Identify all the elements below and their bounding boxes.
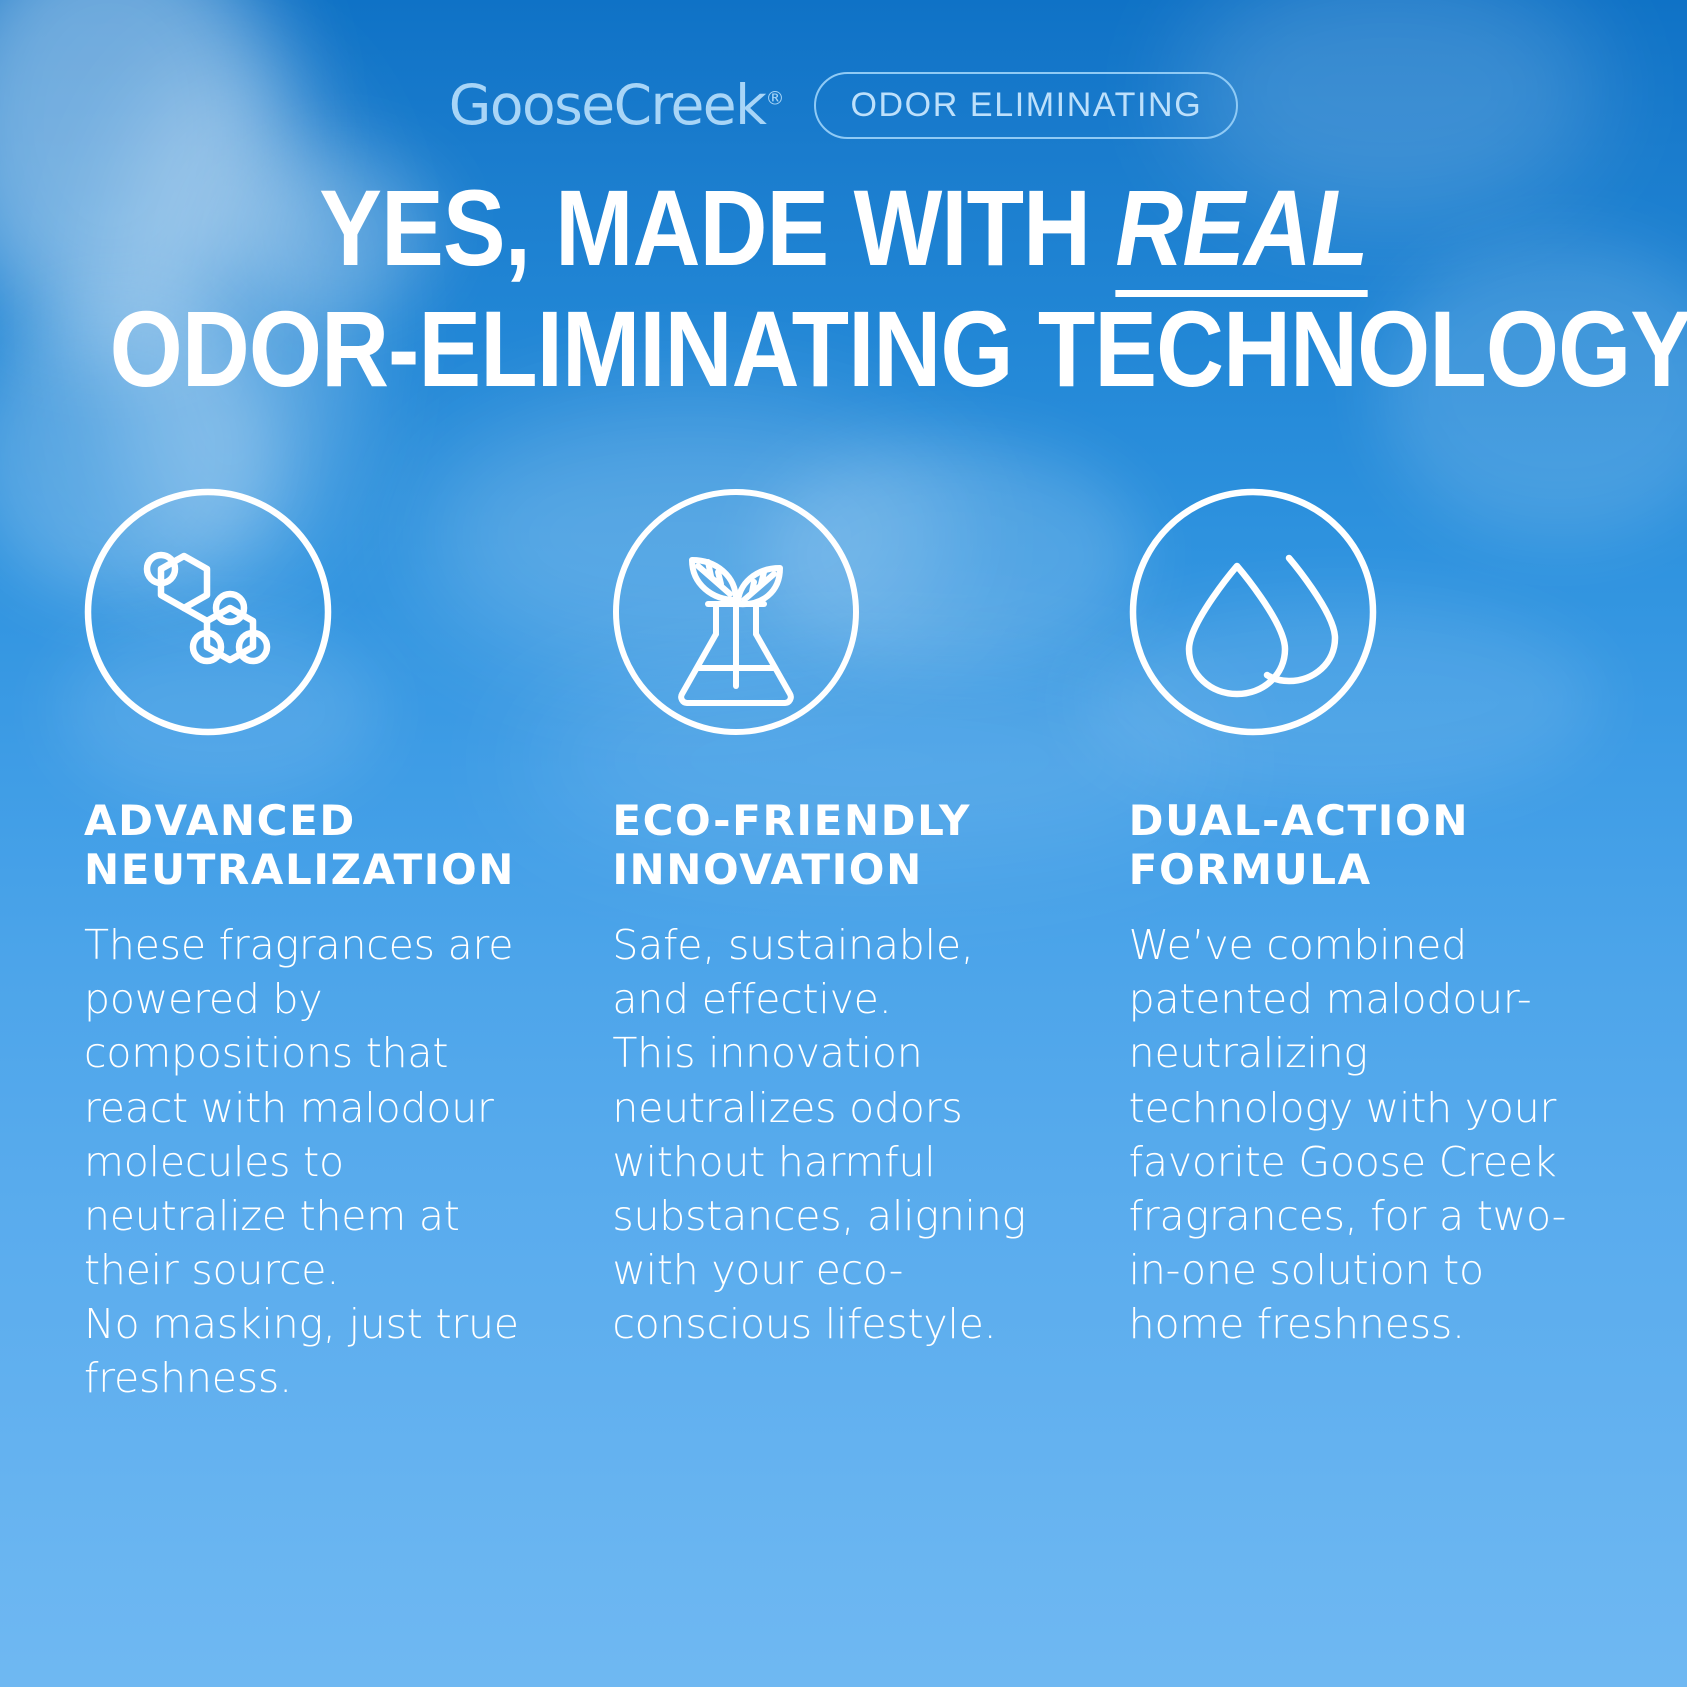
feature-body: We’ve combined patented malodour-neutral… [1129,918,1603,1351]
logo-wordmark: GooseCreek [449,73,766,137]
registered-trademark-symbol: ® [765,88,784,110]
feature-title: ADVANCED NEUTRALIZATION [84,796,524,894]
headline-emphasis-real: REAL [1115,167,1367,297]
molecule-icon [84,488,332,736]
feature-columns: ADVANCED NEUTRALIZATION These fragrances… [84,488,1603,1405]
feature-title: DUAL-ACTION FORMULA [1129,796,1603,894]
goosecreek-logo: GooseCreek® [449,78,785,133]
feature-title: ECO-FRIENDLY INNOVATION [612,796,1052,894]
headline-line-2: ODOR-ELIMINATING TECHNOLOGY [110,297,1578,402]
headline-block: YES, MADE WITH REAL ODOR-ELIMINATING TEC… [0,176,1687,402]
brand-header: GooseCreek® ODOR ELIMINATING [0,72,1687,139]
feature-column-dual-action-formula: DUAL-ACTION FORMULA We’ve combined paten… [1097,488,1603,1405]
headline-line-1-text: YES, MADE WITH [319,167,1115,288]
feature-body: Safe, sustainable, and effective. This i… [612,918,1052,1351]
flask-sprout-icon [612,488,860,736]
feature-column-advanced-neutralization: ADVANCED NEUTRALIZATION These fragrances… [84,488,590,1405]
water-droplets-icon [1129,488,1377,736]
odor-eliminating-badge: ODOR ELIMINATING [814,72,1238,139]
feature-body: These fragrances are powered by composit… [84,918,524,1405]
feature-column-eco-friendly-innovation: ECO-FRIENDLY INNOVATION Safe, sustainabl… [590,488,1096,1405]
headline-line-1: YES, MADE WITH REAL [110,176,1578,281]
infographic-page: GooseCreek® ODOR ELIMINATING YES, MADE W… [0,0,1687,1687]
